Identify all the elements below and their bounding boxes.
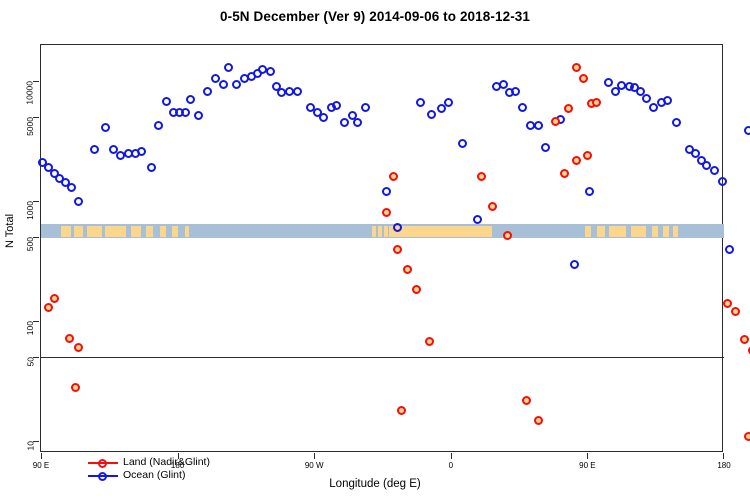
land-patch (673, 226, 678, 237)
data-point-ocean (473, 215, 482, 224)
data-point-ocean (642, 94, 651, 103)
data-point-ocean (444, 98, 453, 107)
plot-area: 10501005001000500010000 90 E18090 W090 E… (40, 44, 723, 452)
land-patch (585, 226, 592, 237)
legend: Land (Nadir&Glint)Ocean (Glint) (86, 456, 210, 482)
data-point-land (397, 406, 406, 415)
legend-circle-icon (98, 472, 107, 481)
x-tick (723, 453, 724, 459)
x-tick-label: 90 E (33, 461, 49, 470)
data-point-land (74, 343, 83, 352)
legend-marker (86, 457, 120, 468)
land-patch (105, 226, 125, 237)
data-point-land (477, 172, 486, 181)
data-point-land (503, 231, 512, 240)
data-point-ocean (427, 110, 436, 119)
data-point-ocean (518, 103, 527, 112)
legend-item: Land (Nadir&Glint) (86, 456, 210, 469)
data-point-land (551, 117, 560, 126)
data-point-ocean (534, 121, 543, 130)
data-point-land (403, 265, 412, 274)
land-patch (631, 226, 646, 237)
data-point-ocean (194, 111, 203, 120)
x-tick-label: 90 W (305, 461, 324, 470)
data-point-ocean (224, 63, 233, 72)
data-point-land (564, 104, 573, 113)
data-point-ocean (74, 197, 83, 206)
land-patch (384, 226, 388, 237)
data-point-ocean (293, 87, 302, 96)
data-point-ocean (319, 113, 328, 122)
figure: 0-5N December (Ver 9) 2014-09-06 to 2018… (0, 0, 750, 500)
data-point-ocean (511, 87, 520, 96)
land-patch (61, 226, 71, 237)
data-point-ocean (725, 245, 734, 254)
data-point-ocean (137, 147, 146, 156)
data-point-ocean (186, 95, 195, 104)
legend-label: Land (Nadir&Glint) (123, 456, 210, 469)
y-tick-label: 100 (25, 321, 35, 335)
data-point-ocean (718, 177, 727, 186)
data-point-land (71, 383, 80, 392)
legend-label: Ocean (Glint) (123, 469, 185, 482)
y-tick-label: 50 (25, 357, 35, 366)
y-tick-label: 500 (25, 237, 35, 251)
data-point-ocean (90, 145, 99, 154)
land-patch (378, 226, 381, 237)
land-patch (663, 226, 669, 237)
data-point-ocean (181, 108, 190, 117)
x-tick-label: 0 (449, 461, 453, 470)
legend-circle-icon (98, 459, 107, 468)
land-patch (609, 226, 625, 237)
data-point-land (560, 169, 569, 178)
data-point-ocean (604, 78, 613, 87)
land-patch (160, 226, 166, 237)
y-tick-label: 1000 (25, 201, 35, 220)
data-point-ocean (361, 103, 370, 112)
data-point-land (50, 294, 59, 303)
data-point-ocean (219, 80, 228, 89)
land-patch (185, 226, 188, 237)
data-point-ocean (585, 187, 594, 196)
land-patch (146, 226, 153, 237)
data-point-ocean (203, 87, 212, 96)
y-axis-label: N Total (4, 214, 16, 248)
y-tick-label: 5000 (25, 117, 35, 136)
data-point-land (412, 285, 421, 294)
data-point-land (744, 432, 750, 441)
x-tick-label: 180 (717, 461, 730, 470)
data-point-ocean (672, 118, 681, 127)
data-point-land (579, 74, 588, 83)
reference-line (41, 357, 724, 358)
data-point-land (65, 334, 74, 343)
land-patch (131, 226, 141, 237)
data-point-land (488, 202, 497, 211)
data-point-ocean (458, 139, 467, 148)
data-point-land (592, 98, 601, 107)
land-patch (87, 226, 102, 237)
data-point-ocean (710, 166, 719, 175)
land-patch (597, 226, 605, 237)
data-point-land (572, 156, 581, 165)
data-point-ocean (541, 143, 550, 152)
chart-title: 0-5N December (Ver 9) 2014-09-06 to 2018… (0, 9, 750, 24)
data-point-ocean (154, 121, 163, 130)
data-point-land (425, 337, 434, 346)
data-point-land (572, 63, 581, 72)
data-point-ocean (162, 97, 171, 106)
data-point-land (731, 307, 740, 316)
data-point-land (740, 335, 749, 344)
x-tick (451, 453, 452, 459)
data-point-land (723, 299, 732, 308)
data-point-ocean (101, 123, 110, 132)
data-point-ocean (382, 187, 391, 196)
data-point-ocean (340, 118, 349, 127)
land-patch (372, 226, 376, 237)
data-point-land (382, 208, 391, 217)
data-point-land (534, 416, 543, 425)
land-patch (74, 226, 83, 237)
x-tick (41, 453, 42, 459)
data-point-land (44, 303, 53, 312)
land-patch (389, 226, 491, 237)
y-tick-label: 10000 (25, 81, 35, 105)
legend-marker (86, 470, 120, 481)
land-patch (172, 226, 177, 237)
data-point-land (522, 396, 531, 405)
legend-item: Ocean (Glint) (86, 469, 210, 482)
y-tick-label: 10 (25, 441, 35, 450)
data-point-ocean (266, 67, 275, 76)
data-point-land (393, 245, 402, 254)
data-point-ocean (744, 126, 750, 135)
data-point-ocean (332, 101, 341, 110)
x-tick-label: 90 E (579, 461, 595, 470)
x-tick (314, 453, 315, 459)
data-point-ocean (663, 96, 672, 105)
data-point-land (389, 172, 398, 181)
x-tick (587, 453, 588, 459)
data-point-land (583, 151, 592, 160)
data-point-ocean (570, 260, 579, 269)
data-point-ocean (147, 163, 156, 172)
data-point-ocean (353, 118, 362, 127)
data-point-ocean (67, 183, 76, 192)
data-point-ocean (232, 80, 241, 89)
land-patch (652, 226, 658, 237)
data-point-ocean (416, 98, 425, 107)
